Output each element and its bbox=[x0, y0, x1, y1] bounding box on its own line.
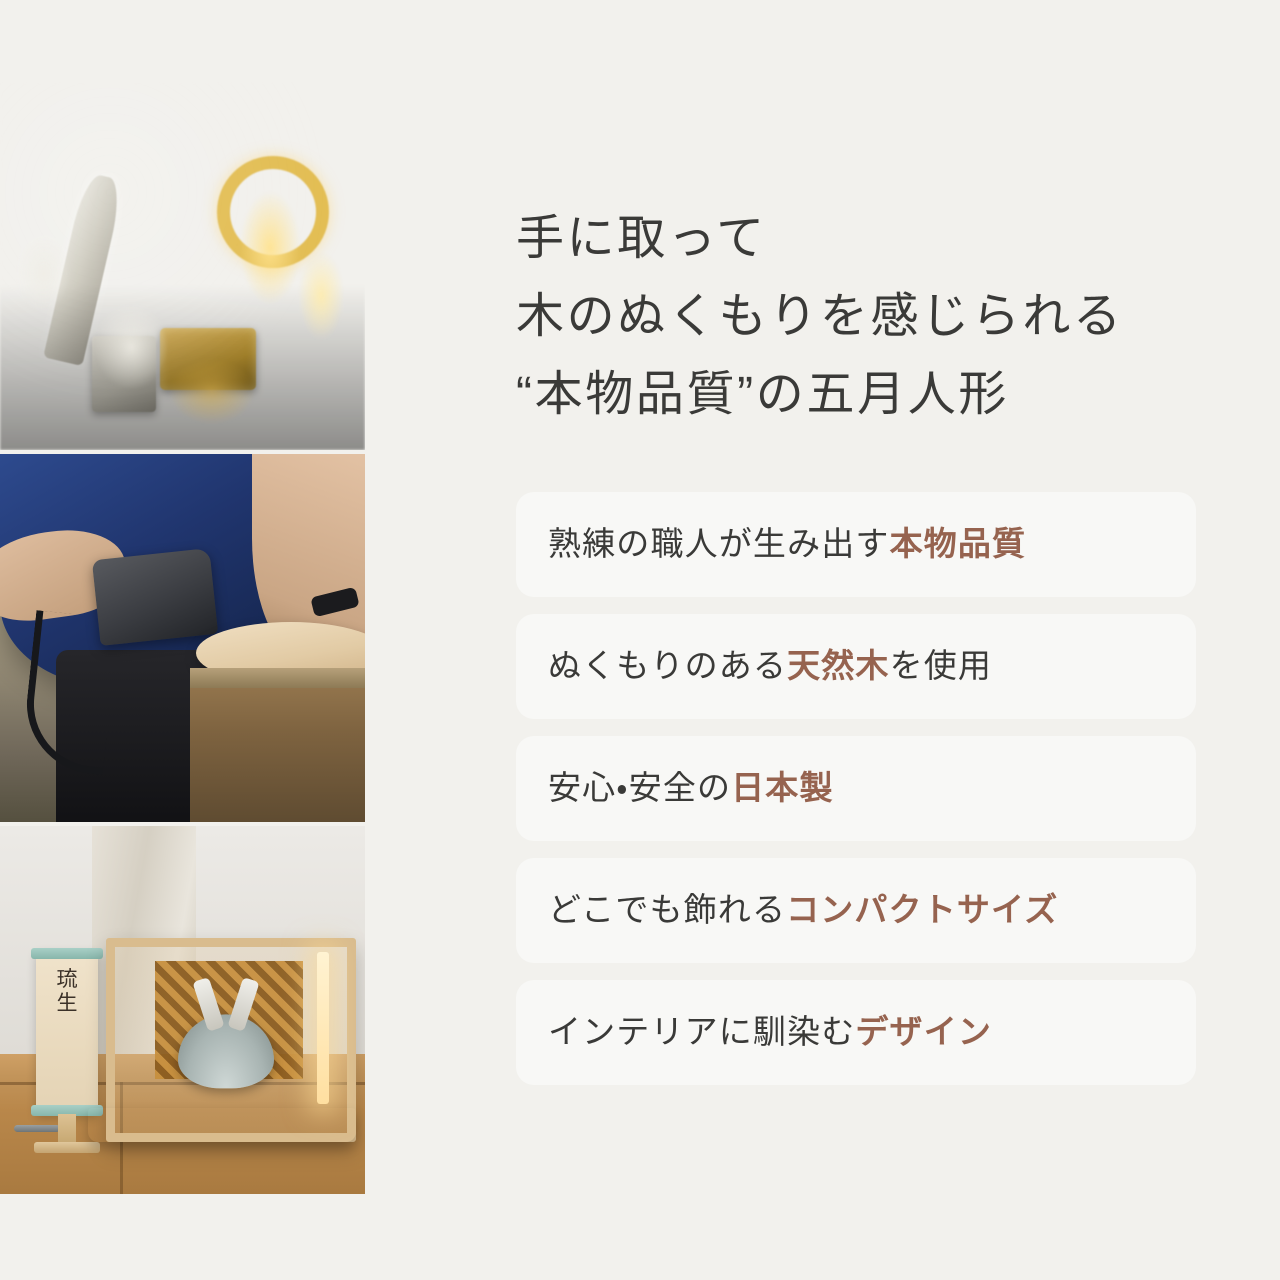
feature-emphasis-2: 天然木 bbox=[787, 647, 889, 684]
workbench bbox=[190, 668, 365, 822]
feature-text-4: どこでも飾れるコンパクトサイズ bbox=[548, 889, 1058, 932]
scroll-name-char-1: 琉 bbox=[57, 967, 78, 991]
scroll-name-text: 琉 生 bbox=[36, 968, 98, 1015]
headline-line-3: “本物品質”の五月人形 bbox=[516, 356, 1196, 434]
feature-plain-before-3: 安心・安全の bbox=[548, 769, 731, 806]
feature-plain-before-2: ぬくもりのある bbox=[548, 647, 787, 684]
feature-plain-before-4: どこでも飾れる bbox=[548, 891, 786, 928]
feature-card-5[interactable]: インテリアに馴染むデザイン bbox=[516, 980, 1196, 1085]
electric-sander-tool bbox=[92, 548, 218, 646]
drawer-handle bbox=[14, 1125, 60, 1132]
feature-text-1: 熟練の職人が生み出す本物品質 bbox=[548, 523, 1026, 566]
feature-emphasis-5: デザイン bbox=[855, 1013, 992, 1050]
armour-silver-ornament-shape bbox=[92, 336, 156, 412]
case-light-strip bbox=[317, 952, 329, 1104]
display-case-base bbox=[88, 1108, 356, 1142]
feature-plain-after-2: を使用 bbox=[890, 647, 992, 684]
feature-card-1[interactable]: 熟練の職人が生み出す本物品質 bbox=[516, 492, 1196, 597]
feature-emphasis-1: 本物品質 bbox=[890, 525, 1027, 562]
scroll-name-char-2: 生 bbox=[57, 991, 78, 1015]
feature-text-5: インテリアに馴染むデザイン bbox=[548, 1011, 992, 1054]
feature-card-3[interactable]: 安心・安全の日本製 bbox=[516, 736, 1196, 841]
photo-armour-parts-workbench bbox=[0, 82, 365, 450]
armour-gold-ornament-shape bbox=[160, 328, 256, 390]
feature-plain-before-1: 熟練の職人が生み出す bbox=[548, 525, 890, 562]
headline-line-2: 木のぬくもりを感じられる bbox=[516, 278, 1196, 356]
feature-plain-before-5: インテリアに馴染む bbox=[548, 1013, 855, 1050]
feature-card-2[interactable]: ぬくもりのある天然木を使用 bbox=[516, 614, 1196, 719]
photo-kabuto-display-case-room: 琉 生 bbox=[0, 826, 365, 1194]
photo-column: 琉 生 bbox=[0, 82, 365, 1195]
feature-card-4[interactable]: どこでも飾れるコンパクトサイズ bbox=[516, 858, 1196, 963]
photo-craftsman-sanding-wood bbox=[0, 454, 365, 822]
feature-list: 熟練の職人が生み出す本物品質 ぬくもりのある天然木を使用 安心・安全の日本製 ど… bbox=[516, 492, 1196, 1085]
scroll-stand bbox=[58, 1114, 76, 1144]
feature-text-3: 安心・安全の日本製 bbox=[548, 767, 834, 810]
feature-emphasis-4: コンパクトサイズ bbox=[786, 891, 1058, 928]
name-scroll-banner: 琉 生 bbox=[36, 950, 98, 1114]
armour-gold-ring-shape bbox=[217, 156, 329, 268]
content-column: 手に取って 木のぬくもりを感じられる “本物品質”の五月人形 熟練の職人が生み出… bbox=[516, 0, 1196, 1280]
page-headline: 手に取って 木のぬくもりを感じられる “本物品質”の五月人形 bbox=[516, 200, 1196, 433]
armour-blade-shape bbox=[43, 172, 125, 366]
headline-line-1: 手に取って bbox=[516, 200, 1196, 278]
scroll-top-rod bbox=[31, 948, 103, 959]
feature-emphasis-3: 日本製 bbox=[731, 769, 833, 806]
feature-text-2: ぬくもりのある天然木を使用 bbox=[548, 645, 992, 688]
promo-page: 琉 生 手に取って 木のぬくもりを感じられる “本物品質”の五月人形 熟練の職人… bbox=[0, 0, 1280, 1280]
